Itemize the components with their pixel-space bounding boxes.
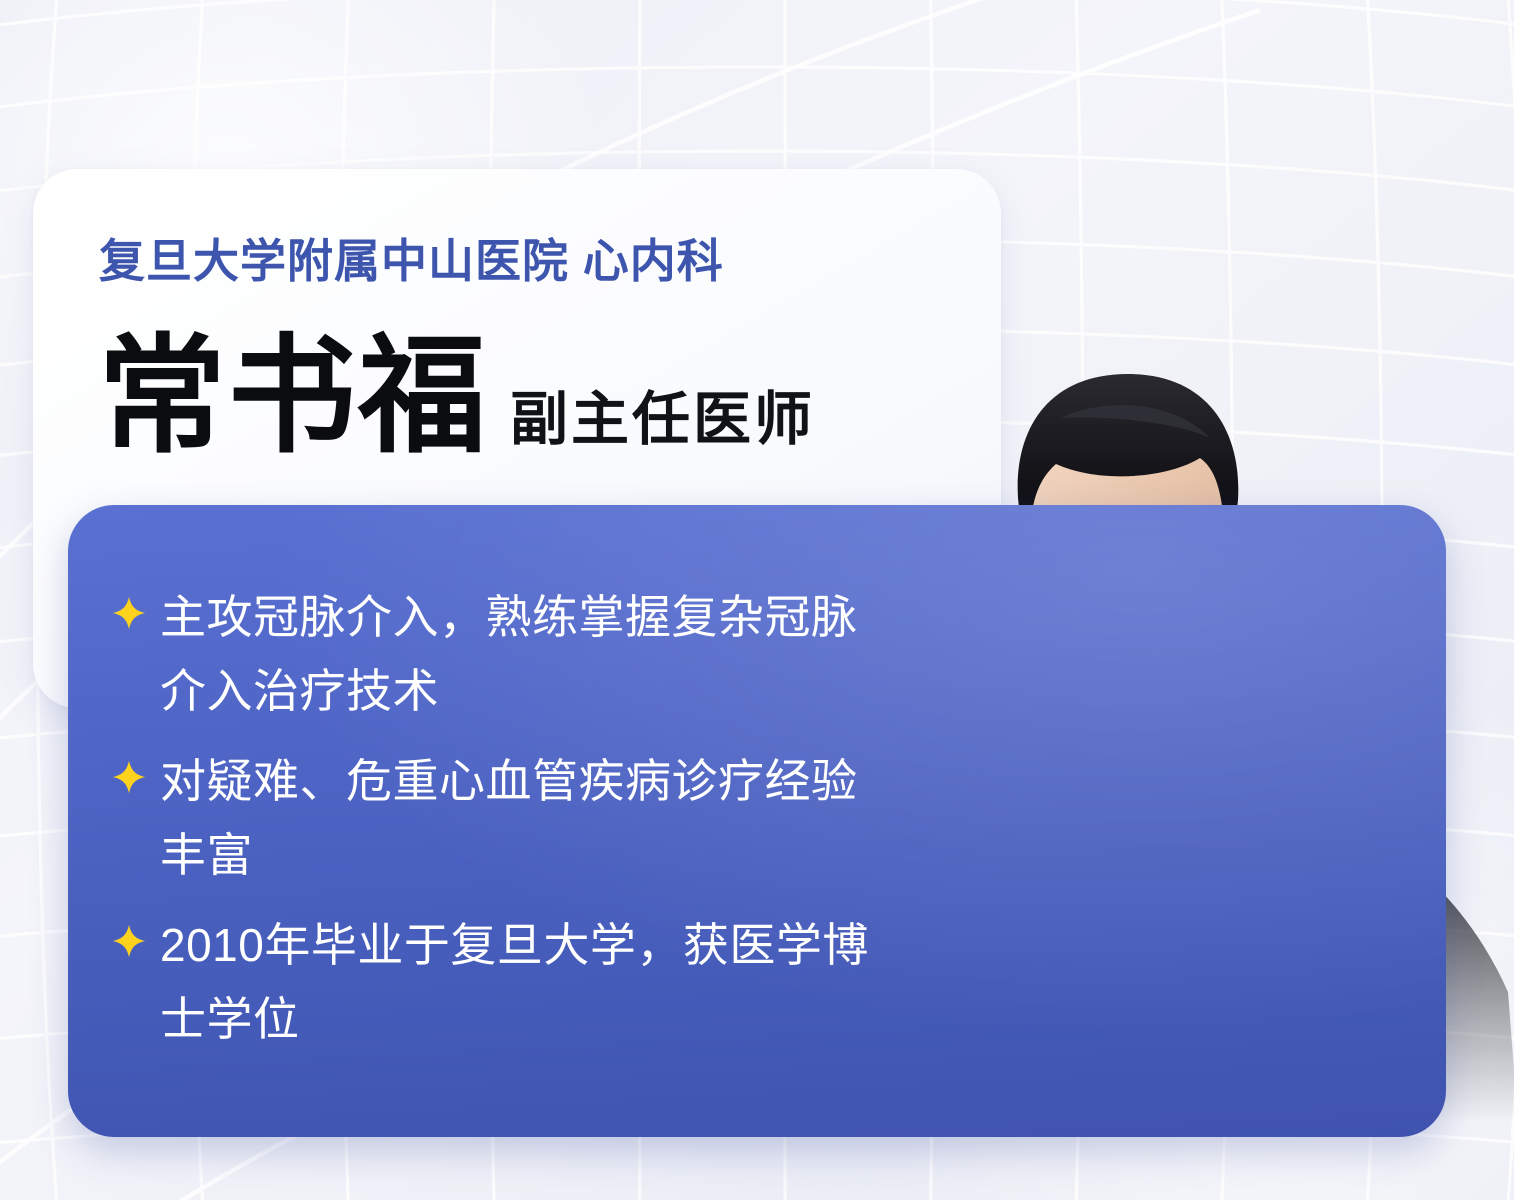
sparkle-icon bbox=[112, 760, 146, 794]
list-item: 2010年毕业于复旦大学，获医学博士学位 bbox=[112, 908, 872, 1056]
list-item: 对疑难、危重心血管疾病诊疗经验丰富 bbox=[112, 744, 872, 892]
doctor-identity: 常书福 副主任医师 bbox=[98, 333, 815, 461]
poster-canvas: 复旦大学附属中山医院 心内科 常书福 副主任医师 主攻冠脉介入，熟练掌握复杂冠脉… bbox=[0, 0, 1514, 1200]
list-item-text: 对疑难、危重心血管疾病诊疗经验丰富 bbox=[160, 744, 872, 892]
list-item: 主攻冠脉介入，熟练掌握复杂冠脉介入治疗技术 bbox=[112, 580, 872, 728]
sparkle-icon bbox=[112, 596, 146, 630]
highlight-list: 主攻冠脉介入，熟练掌握复杂冠脉介入治疗技术 对疑难、危重心血管疾病诊疗经验丰富 … bbox=[112, 580, 872, 1072]
doctor-title: 副主任医师 bbox=[510, 391, 815, 449]
sparkle-icon bbox=[112, 924, 146, 958]
list-item-text: 2010年毕业于复旦大学，获医学博士学位 bbox=[160, 908, 872, 1056]
list-item-text: 主攻冠脉介入，熟练掌握复杂冠脉介入治疗技术 bbox=[160, 580, 872, 728]
doctor-name: 常书福 bbox=[98, 333, 488, 461]
department-label: 复旦大学附属中山医院 心内科 bbox=[99, 225, 724, 291]
